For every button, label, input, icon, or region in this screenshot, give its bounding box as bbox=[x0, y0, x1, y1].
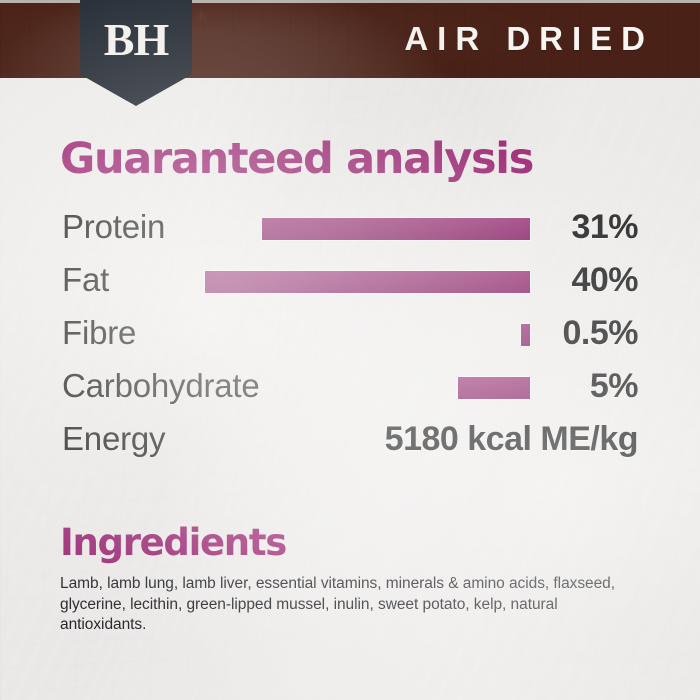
analysis-row-protein: Protein 31% bbox=[0, 204, 700, 257]
analysis-bar-track bbox=[0, 271, 530, 293]
brand-logo-text: BH bbox=[80, 17, 192, 63]
analysis-bar bbox=[521, 324, 530, 346]
analysis-row-fat: Fat 40% bbox=[0, 257, 700, 310]
analysis-row-value: 5180 kcal ME/kg bbox=[385, 416, 638, 462]
analysis-bar-track bbox=[0, 377, 530, 399]
analysis-bar-track bbox=[0, 218, 530, 240]
product-range-title: AIR DRIED bbox=[404, 16, 654, 62]
guaranteed-analysis-heading: Guaranteed analysis bbox=[60, 134, 533, 184]
analysis-row-energy: Energy 5180 kcal ME/kg bbox=[0, 416, 700, 469]
analysis-rows: Protein 31% Fat 40% Fibre 0.5% Carbohydr… bbox=[0, 204, 700, 469]
ingredients-body-text: Lamb, lamb lung, lamb liver, essential v… bbox=[60, 574, 644, 636]
analysis-row-value: 31% bbox=[571, 204, 638, 250]
product-label-panel: BH ® AIR DRIED Guaranteed analysis Prote… bbox=[0, 0, 700, 700]
analysis-bar bbox=[262, 218, 530, 240]
analysis-bar-track bbox=[0, 324, 530, 346]
registered-trademark-icon: ® bbox=[197, 9, 207, 22]
analysis-row-value: 5% bbox=[590, 363, 638, 409]
ingredients-heading: Ingredients bbox=[60, 521, 286, 565]
analysis-row-value: 0.5% bbox=[563, 310, 639, 356]
analysis-bar bbox=[458, 377, 530, 399]
analysis-row-label: Energy bbox=[62, 416, 165, 462]
analysis-row-fibre: Fibre 0.5% bbox=[0, 310, 700, 363]
analysis-bar bbox=[205, 271, 530, 293]
analysis-row-carbohydrate: Carbohydrate 5% bbox=[0, 363, 700, 416]
analysis-row-value: 40% bbox=[571, 257, 638, 303]
